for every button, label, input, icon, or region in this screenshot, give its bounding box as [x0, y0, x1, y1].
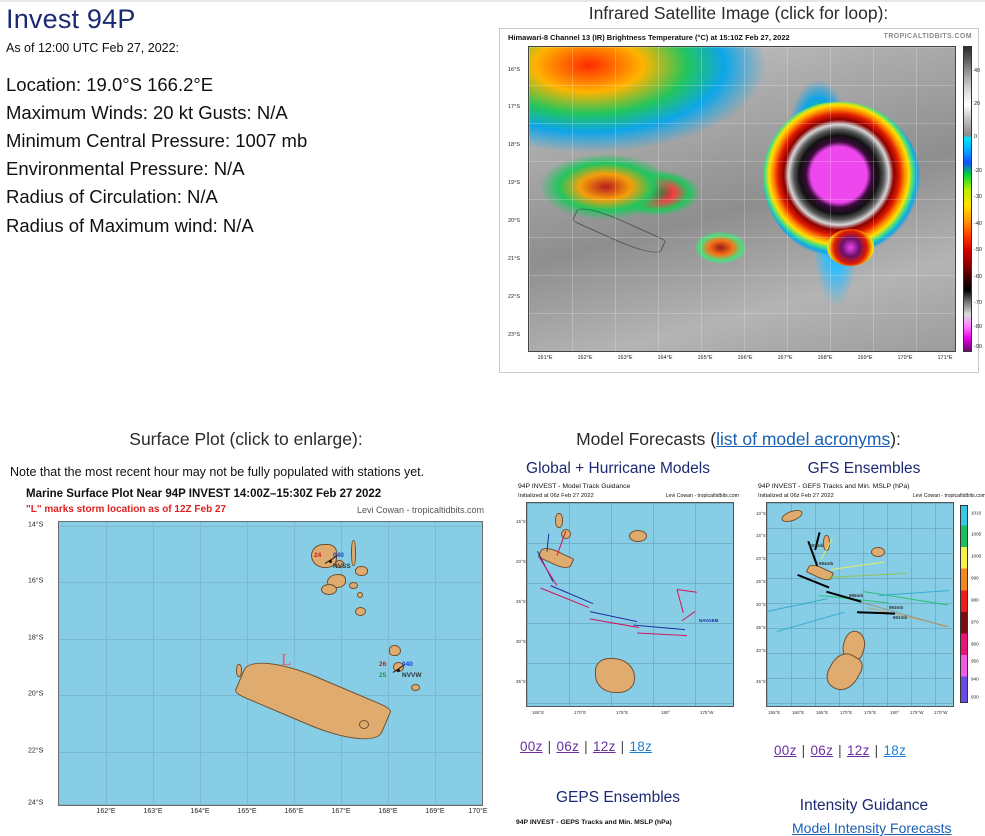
model-track-map[interactable]: NAVGEM — [526, 502, 734, 707]
surface-lon-tick: 167°E — [331, 808, 350, 815]
gefs-lon-tick: 155°E — [768, 710, 780, 715]
satellite-heading: Infrared Satellite Image (click for loop… — [492, 3, 985, 24]
land-isle-of-pines — [359, 720, 369, 729]
cycle-separator: | — [616, 739, 630, 754]
surface-plot-credit: Levi Cowan - tropicaltidbits.com — [357, 505, 484, 515]
gefs-lat-tick: 35°S — [756, 625, 766, 630]
cycle-link-18z[interactable]: 18z — [883, 743, 906, 758]
satellite-lon-tick: 161°E — [537, 355, 552, 361]
left-column: Invest 94P As of 12:00 UTC Feb 27, 2022:… — [0, 0, 492, 240]
surface-lon-tick: 169°E — [425, 808, 444, 815]
surface-lat-tick: 16°S — [28, 578, 43, 585]
gefs-colorbar-tick: 1010 — [971, 511, 981, 516]
cycle-separator: | — [543, 739, 557, 754]
model-lat-tick: 20°S — [516, 559, 526, 564]
surface-plot-title: Marine Surface Plot Near 94P INVEST 14:0… — [26, 488, 381, 500]
page-title: Invest 94P — [6, 4, 492, 35]
satellite-lat-tick: 19°S — [508, 180, 520, 186]
land-vanuatu-efate — [349, 582, 358, 589]
fact-location: Location: 19.0°S 166.2°E — [6, 71, 492, 99]
satellite-lon-tick: 170°E — [897, 355, 912, 361]
model-track-panel-init: Initialized at 06z Feb 27 2022 — [518, 493, 594, 499]
station-pressure: 040 — [333, 552, 344, 559]
satellite-colorbar-tick: -30 — [974, 194, 982, 200]
fact-radius-circ: Radius of Circulation: N/A — [6, 183, 492, 211]
surface-plot-map[interactable]: L 24 040 NVSS 26 040 25 NVVW — [58, 521, 483, 806]
gefs-panel-init: Initialized at 06z Feb 27 2022 — [758, 493, 834, 499]
land-vanuatu-erromango — [357, 592, 363, 598]
model-track-annotation: NAVGEM — [699, 618, 718, 623]
gefs-map[interactable]: 997mb 994mb 995mb 993mb 991mb — [766, 502, 954, 707]
cycle-link-06z[interactable]: 06z — [556, 739, 579, 754]
gefs-colorbar-tick: 950 — [971, 659, 979, 664]
cycle-link-00z[interactable]: 00z — [520, 739, 543, 754]
model-forecasts-heading: Model Forecasts (list of model acronyms)… — [492, 429, 985, 450]
satellite-lon-tick: 166°E — [737, 355, 752, 361]
satellite-colorbar-tick: 40 — [974, 68, 980, 74]
station-temp: 24 — [314, 552, 321, 559]
model-lat-tick: 15°S — [516, 519, 526, 524]
gefs-lat-tick: 40°S — [756, 648, 766, 653]
satellite-colorbar-tick: 0 — [974, 134, 977, 140]
gefs-lat-tick: 25°S — [756, 579, 766, 584]
satellite-colorbar-tick: -80 — [974, 324, 982, 330]
model-lon-tick: 175°W — [700, 710, 714, 715]
satellite-colorbar-tick: -50 — [974, 247, 982, 253]
gefs-colorbar-tick: 930 — [971, 695, 979, 700]
gefs-track-label: 993mb — [889, 605, 903, 610]
surface-plot-heading: Surface Plot (click to enlarge): — [0, 429, 492, 450]
satellite-lon-tick: 164°E — [657, 355, 672, 361]
cycle-separator: | — [797, 743, 811, 758]
surface-lat-tick: 14°S — [28, 522, 43, 529]
satellite-lat-tick: 18°S — [508, 142, 520, 148]
surface-plot-figure[interactable]: Marine Surface Plot Near 94P INVEST 14:0… — [26, 488, 486, 826]
satellite-lon-tick: 167°E — [777, 355, 792, 361]
fact-min-pressure: Minimum Central Pressure: 1007 mb — [6, 127, 492, 155]
as-of-timestamp: As of 12:00 UTC Feb 27, 2022: — [6, 41, 492, 55]
gefs-track-label: 994mb — [819, 561, 833, 566]
satellite-lat-tick: 23°S — [508, 332, 520, 338]
model-track-panel-title: 94P INVEST - Model Track Guidance — [518, 483, 630, 490]
satellite-lon-tick: 169°E — [857, 355, 872, 361]
gefs-colorbar — [960, 505, 968, 703]
model-track-panel-credit: Levi Cowan - tropicaltidbits.com — [666, 493, 739, 499]
gefs-colorbar-tick: 940 — [971, 677, 979, 682]
station-pressure: 040 — [402, 661, 413, 668]
satellite-colorbar-tick: -40 — [974, 221, 982, 227]
model-lat-tick: 25°S — [516, 599, 526, 604]
gefs-colorbar-tick: 1000 — [971, 554, 981, 559]
fact-env-pressure: Environmental Pressure: N/A — [6, 155, 492, 183]
intensity-guidance-subheading: Intensity Guidance — [748, 797, 980, 815]
model-track-cycle-links: 00z|06z|12z|18z — [520, 739, 652, 754]
cycle-link-18z[interactable]: 18z — [629, 739, 652, 754]
satellite-credit: TROPICALTIDBITS.COM — [884, 33, 972, 40]
land-vanuatu-epi — [321, 584, 337, 595]
fact-max-winds: Maximum Winds: 20 kt Gusts: N/A — [6, 99, 492, 127]
satellite-lat-tick: 16°S — [508, 67, 520, 73]
station-dewpoint: 25 — [379, 672, 386, 679]
gefs-track-label: 991mb — [893, 615, 907, 620]
satellite-lat-tick: 21°S — [508, 256, 520, 262]
cycle-link-12z[interactable]: 12z — [847, 743, 870, 758]
cycle-link-00z[interactable]: 00z — [774, 743, 797, 758]
model-lat-tick: 30°S — [516, 639, 526, 644]
model-track-guidance-figure[interactable]: 94P INVEST - Model Track Guidance Initia… — [516, 483, 741, 728]
satellite-lon-tick: 168°E — [817, 355, 832, 361]
land-new-caledonia — [234, 649, 393, 753]
surface-lat-tick: 24°S — [28, 800, 43, 807]
gefs-lon-tick: 160°E — [792, 710, 804, 715]
model-intensity-forecasts-link[interactable]: Model Intensity Forecasts — [792, 820, 952, 836]
cycle-link-12z[interactable]: 12z — [593, 739, 616, 754]
gefs-colorbar-tick: 980 — [971, 598, 979, 603]
low-pressure-marker: L — [281, 650, 291, 670]
satellite-colorbar-tick: -90 — [974, 344, 982, 350]
surface-plot-low-note: "L" marks storm location as of 12Z Feb 2… — [26, 504, 226, 515]
satellite-colorbar-tick: -20 — [974, 168, 982, 174]
model-lat-tick: 35°S — [516, 679, 526, 684]
satellite-colorbar-tick: 20 — [974, 101, 980, 107]
satellite-lon-tick: 171°E — [937, 355, 952, 361]
gefs-panel-title: 94P INVEST - GEFS Tracks and Min. MSLP (… — [758, 483, 909, 490]
geps-panel-title: 94P INVEST - GEPS Tracks and Min. MSLP (… — [516, 819, 672, 826]
surface-plot-note: Note that the most recent hour may not b… — [10, 465, 424, 479]
gefs-lat-tick: 45°S — [756, 679, 766, 684]
satellite-colorbar-tick: -70 — [974, 300, 982, 306]
satellite-panel-title: Himawari-8 Channel 13 (IR) Brightness Te… — [508, 33, 790, 42]
surface-lon-tick: 162°E — [96, 808, 115, 815]
gefs-lon-tick: 170°E — [840, 710, 852, 715]
gefs-lat-tick: 20°S — [756, 556, 766, 561]
satellite-colorbar — [963, 46, 972, 352]
land-vanuatu-pentecost — [355, 566, 368, 576]
land-new-zealand — [595, 658, 635, 693]
satellite-lat-tick: 17°S — [508, 104, 520, 110]
satellite-lon-tick: 165°E — [697, 355, 712, 361]
gefs-colorbar-tick: 1005 — [971, 532, 981, 537]
surface-lon-tick: 163°E — [143, 808, 162, 815]
land-belep — [236, 664, 242, 677]
gefs-lon-tick: 165°E — [816, 710, 828, 715]
gefs-colorbar-tick: 960 — [971, 642, 979, 647]
model-lon-tick: 175°E — [616, 710, 628, 715]
gefs-tracks-figure[interactable]: 94P INVEST - GEFS Tracks and Min. MSLP (… — [756, 483, 985, 728]
gefs-lon-tick: 175°E — [864, 710, 876, 715]
gefs-lat-tick: 10°S — [756, 511, 766, 516]
satellite-colorbar-tick: -60 — [974, 274, 982, 280]
global-hurricane-models-subheading: Global + Hurricane Models — [504, 460, 732, 478]
station-temp: 26 — [379, 661, 386, 668]
station-id: NVVW — [402, 672, 422, 679]
satellite-figure[interactable]: Himawari-8 Channel 13 (IR) Brightness Te… — [499, 28, 979, 373]
cycle-separator: | — [579, 739, 593, 754]
model-acronyms-link[interactable]: list of model acronyms — [716, 429, 890, 449]
surface-lon-tick: 168°E — [378, 808, 397, 815]
gfs-ensembles-subheading: GFS Ensembles — [748, 460, 980, 478]
land-vanuatu-tanna — [355, 607, 366, 616]
gefs-panel-credit: Levi Cowan - tropicaltidbits.com — [913, 493, 985, 499]
gefs-track-label: 997mb — [809, 543, 823, 548]
gefs-lon-tick: 175°W — [910, 710, 924, 715]
satellite-lon-tick: 162°E — [577, 355, 592, 361]
land-loyalty-mare — [411, 684, 420, 691]
land-fiji — [629, 530, 647, 542]
surface-lon-tick: 170°E — [468, 808, 487, 815]
gefs-colorbar-tick: 990 — [971, 576, 979, 581]
model-lon-tick: 170°E — [574, 710, 586, 715]
model-lon-tick: 165°E — [532, 710, 544, 715]
gefs-colorbar-tick: 970 — [971, 620, 979, 625]
gefs-cycle-links: 00z|06z|12z|18z — [774, 743, 906, 758]
gefs-lat-tick: 30°S — [756, 602, 766, 607]
land-vanuatu-maewo — [351, 540, 356, 566]
cycle-separator: | — [833, 743, 847, 758]
satellite-image[interactable] — [528, 46, 956, 352]
land-vanuatu — [555, 513, 563, 528]
station-id: NVSS — [333, 563, 351, 570]
satellite-lat-tick: 22°S — [508, 294, 520, 300]
land-loyalty-ouvea — [389, 645, 401, 656]
storm-facts-list: Location: 19.0°S 166.2°E Maximum Winds: … — [6, 71, 492, 240]
surface-lat-tick: 18°S — [28, 635, 43, 642]
cycle-link-06z[interactable]: 06z — [810, 743, 833, 758]
gefs-lat-tick: 15°S — [756, 533, 766, 538]
satellite-lat-tick: 20°S — [508, 218, 520, 224]
gefs-lon-tick: 170°W — [934, 710, 948, 715]
geps-ensembles-subheading: GEPS Ensembles — [504, 789, 732, 807]
fact-radius-max-wind: Radius of Maximum wind: N/A — [6, 212, 492, 240]
model-heading-prefix: Model Forecasts ( — [576, 429, 716, 449]
gefs-lon-tick: 180° — [890, 710, 899, 715]
cycle-separator: | — [870, 743, 884, 758]
surface-lat-tick: 20°S — [28, 691, 43, 698]
model-lon-tick: 180° — [661, 710, 670, 715]
model-heading-suffix: ): — [890, 429, 901, 449]
land-fiji — [871, 547, 885, 557]
gefs-track-label: 995mb — [849, 593, 863, 598]
surface-lon-tick: 165°E — [237, 808, 256, 815]
surface-lon-tick: 164°E — [190, 808, 209, 815]
satellite-lon-tick: 163°E — [617, 355, 632, 361]
surface-lon-tick: 166°E — [284, 808, 303, 815]
surface-lat-tick: 22°S — [28, 748, 43, 755]
